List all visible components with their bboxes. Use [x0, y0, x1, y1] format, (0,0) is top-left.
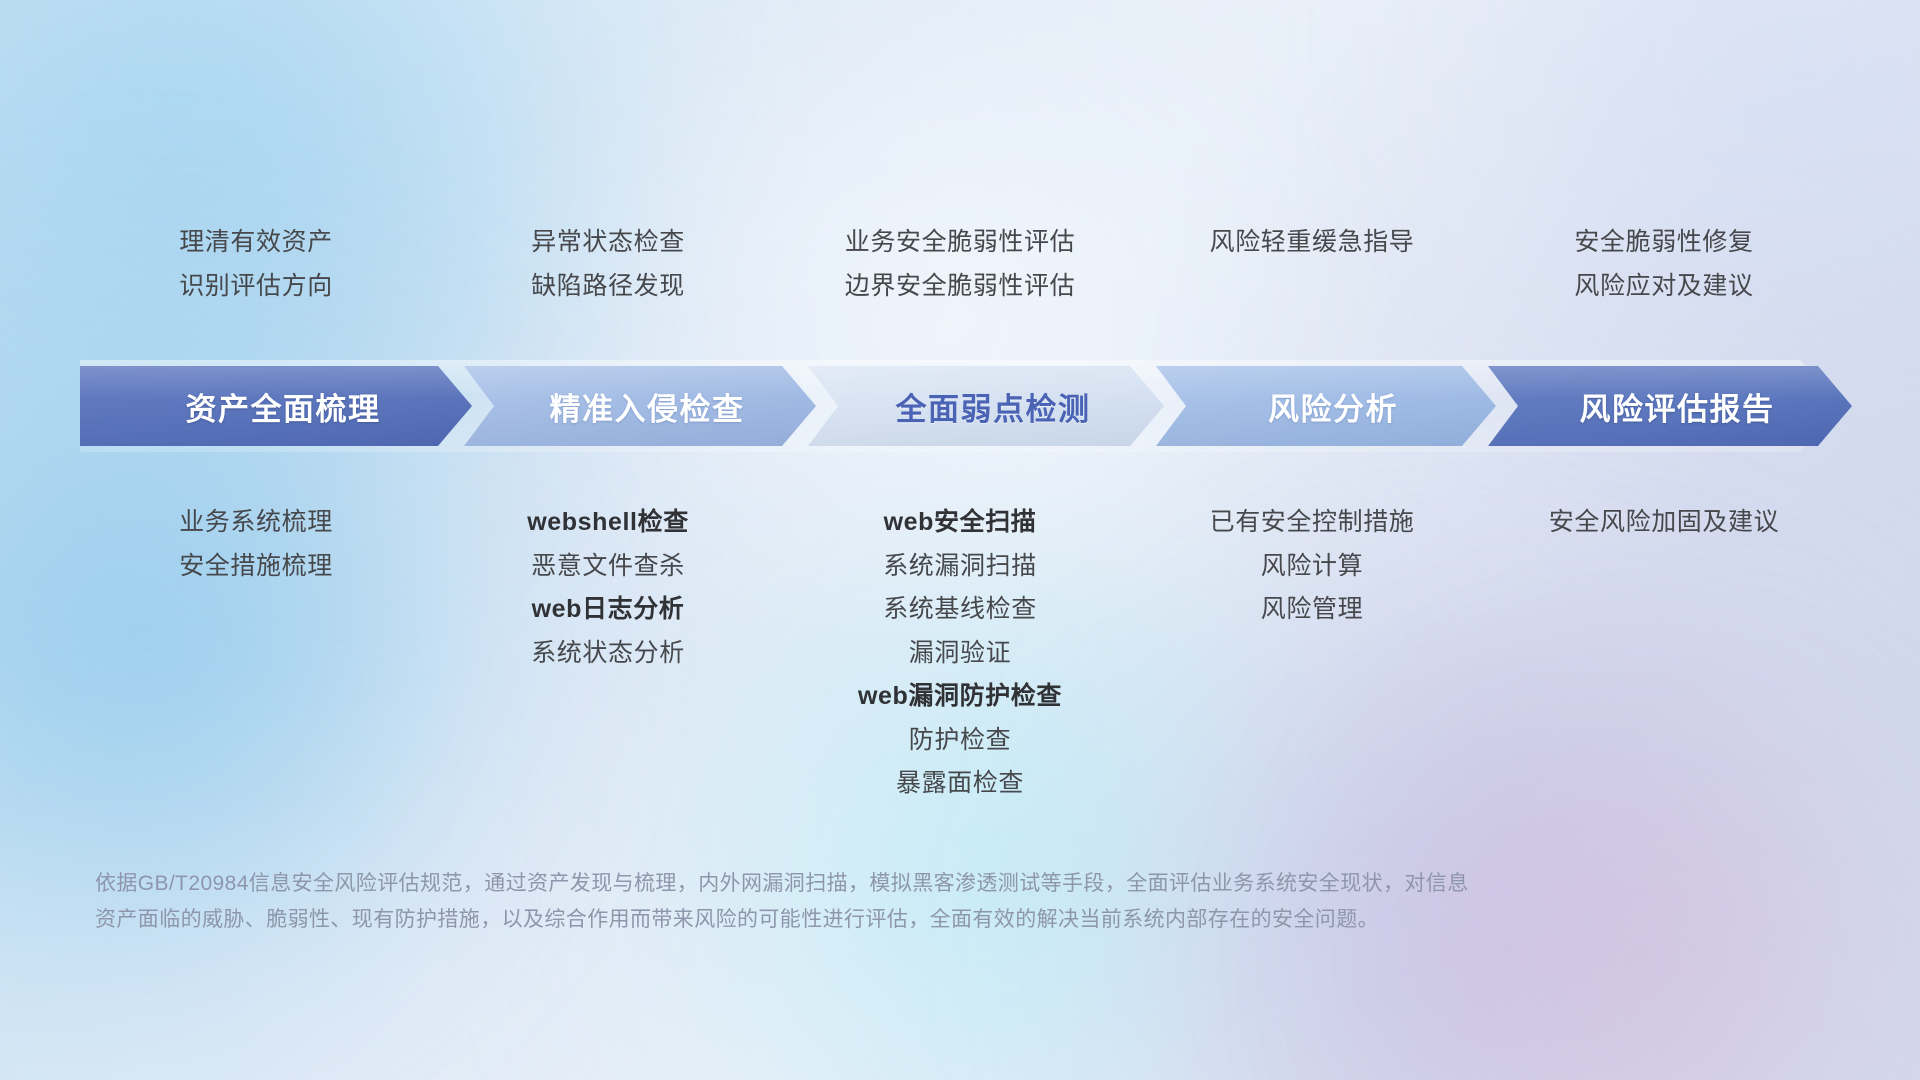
- notes-below-weakness-detection: web安全扫描 系统漏洞扫描 系统基线检查 漏洞验证 web漏洞防护检查 防护检…: [784, 508, 1136, 799]
- footer-line-1: 依据GB/T20984信息安全风险评估规范，通过资产发现与梳理，内外网漏洞扫描，…: [95, 866, 1655, 902]
- notes-below-risk-analysis: 已有安全控制措施 风险计算 风险管理: [1136, 508, 1488, 625]
- notes-above-intrusion-check: 异常状态检查 缺陷路径发现: [432, 228, 784, 301]
- note-item: 识别评估方向: [179, 272, 333, 302]
- note-item: 安全措施梳理: [179, 552, 333, 582]
- stage-title: 全面弱点检测: [882, 384, 1091, 429]
- process-banner: 资产全面梳理 精准入侵检查 全面弱点检测 风险分析 风险评估报告: [80, 366, 1840, 446]
- note-item: 风险轻重缓急指导: [1210, 228, 1415, 258]
- note-item: 风险管理: [1261, 595, 1363, 625]
- note-item: 风险计算: [1261, 552, 1363, 582]
- notes-above-asset-inventory: 理清有效资产 识别评估方向: [80, 228, 432, 301]
- note-item: 理清有效资产: [179, 228, 333, 258]
- note-item: 防护检查: [909, 726, 1011, 756]
- note-item: web日志分析: [532, 595, 685, 625]
- stage-chevron-risk-analysis[interactable]: 风险分析: [1156, 366, 1496, 446]
- stage-chevron-intrusion-check[interactable]: 精准入侵检查: [464, 366, 816, 446]
- note-item: 恶意文件查杀: [531, 552, 685, 582]
- notes-below-risk-report: 安全风险加固及建议: [1488, 508, 1840, 538]
- note-item: web漏洞防护检查: [858, 682, 1062, 712]
- stage-chevron-asset-inventory[interactable]: 资产全面梳理: [80, 366, 472, 446]
- stage-chevron-risk-report[interactable]: 风险评估报告: [1488, 366, 1852, 446]
- slide-canvas: 理清有效资产 识别评估方向 异常状态检查 缺陷路径发现 业务安全脆弱性评估 边界…: [0, 0, 1920, 1080]
- slide-content: 理清有效资产 识别评估方向 异常状态检查 缺陷路径发现 业务安全脆弱性评估 边界…: [0, 0, 1920, 1080]
- note-item: 漏洞验证: [909, 639, 1011, 669]
- note-item: 安全风险加固及建议: [1549, 508, 1779, 538]
- notes-row-below: 业务系统梳理 安全措施梳理 webshell检查 恶意文件查杀 web日志分析 …: [80, 508, 1840, 799]
- note-item: 异常状态检查: [531, 228, 685, 258]
- footer-line-2: 资产面临的威胁、脆弱性、现有防护措施，以及综合作用而带来风险的可能性进行评估，全…: [95, 902, 1655, 938]
- notes-above-risk-analysis: 风险轻重缓急指导: [1136, 228, 1488, 301]
- note-item: 缺陷路径发现: [531, 272, 685, 302]
- footer-description: 依据GB/T20984信息安全风险评估规范，通过资产发现与梳理，内外网漏洞扫描，…: [95, 866, 1655, 938]
- stage-chevron-weakness-detection[interactable]: 全面弱点检测: [808, 366, 1164, 446]
- note-item: 业务系统梳理: [179, 508, 333, 538]
- note-item: 风险应对及建议: [1574, 272, 1753, 302]
- stage-title: 精准入侵检查: [536, 384, 745, 429]
- stage-title: 风险评估报告: [1566, 384, 1775, 429]
- note-item: webshell检查: [527, 508, 689, 538]
- note-item: 已有安全控制措施: [1210, 508, 1415, 538]
- notes-below-intrusion-check: webshell检查 恶意文件查杀 web日志分析 系统状态分析: [432, 508, 784, 668]
- notes-above-risk-report: 安全脆弱性修复 风险应对及建议: [1488, 228, 1840, 301]
- notes-below-asset-inventory: 业务系统梳理 安全措施梳理: [80, 508, 432, 581]
- note-item: 系统漏洞扫描: [883, 552, 1037, 582]
- note-item: 边界安全脆弱性评估: [845, 272, 1075, 302]
- note-item: 系统状态分析: [531, 639, 685, 669]
- note-item: 暴露面检查: [896, 769, 1024, 799]
- notes-above-weakness-detection: 业务安全脆弱性评估 边界安全脆弱性评估: [784, 228, 1136, 301]
- note-item: 安全脆弱性修复: [1574, 228, 1753, 258]
- note-item: web安全扫描: [884, 508, 1037, 538]
- note-item: 业务安全脆弱性评估: [845, 228, 1075, 258]
- stage-title: 资产全面梳理: [172, 384, 381, 429]
- notes-row-above: 理清有效资产 识别评估方向 异常状态检查 缺陷路径发现 业务安全脆弱性评估 边界…: [80, 228, 1840, 301]
- stage-title: 风险分析: [1254, 384, 1398, 429]
- note-item: 系统基线检查: [883, 595, 1037, 625]
